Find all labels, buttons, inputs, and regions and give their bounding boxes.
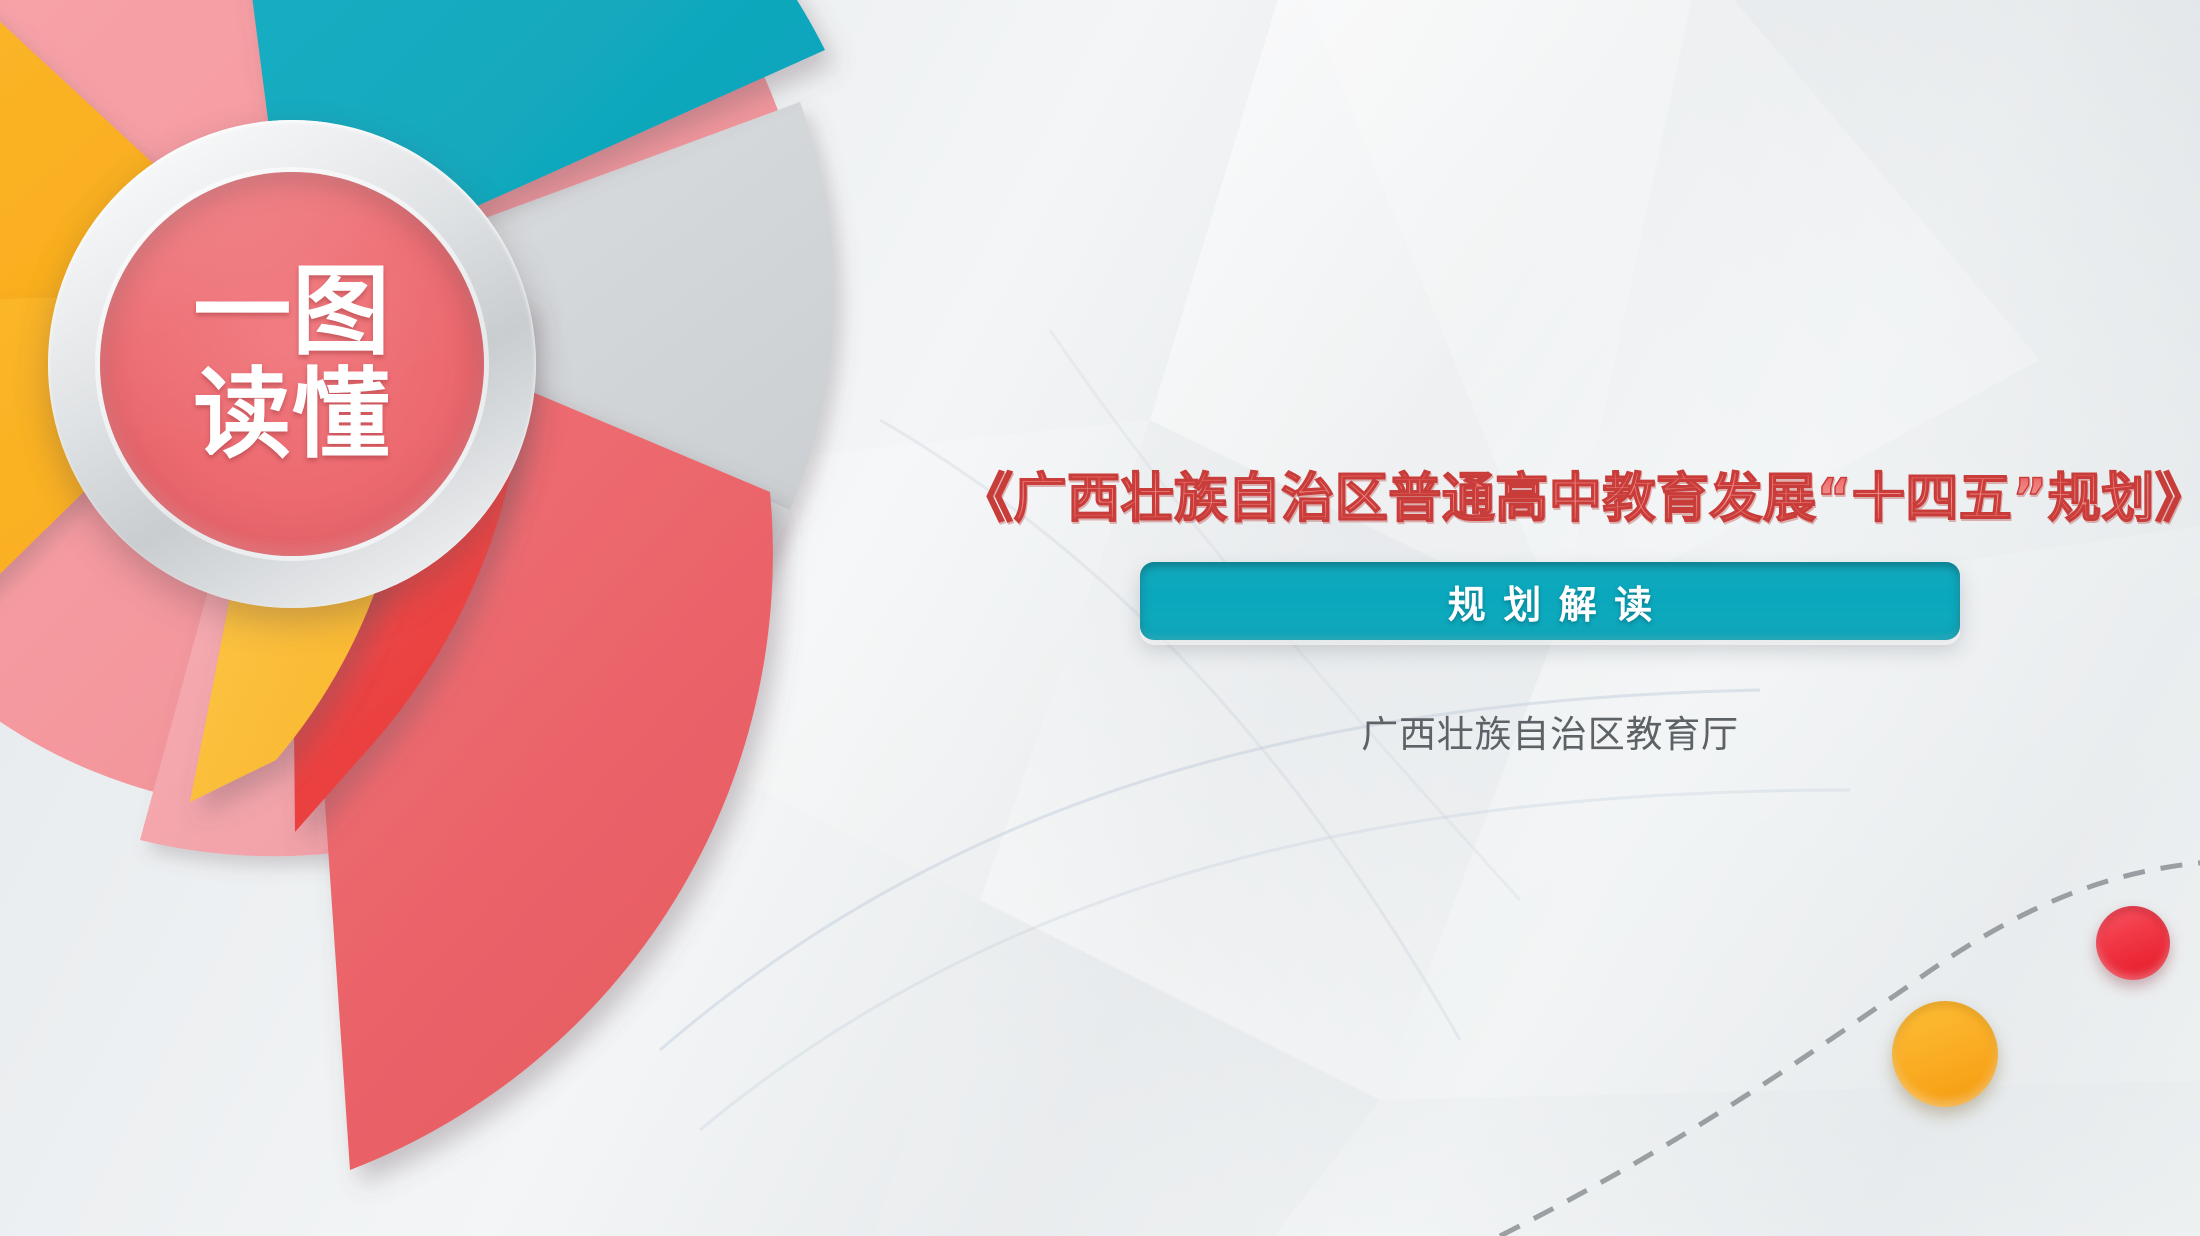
badge-text-block: 一图 读懂 — [100, 172, 484, 556]
plan-interpretation-banner[interactable]: 规划解读 — [1140, 562, 1960, 640]
yi-tu-du-dong-badge: 一图 读懂 — [48, 120, 536, 608]
slide-canvas: 一图 读懂 《广西壮族自治区普通高中教育发展“十四五”规划》 规划解读 广西壮族… — [0, 0, 2200, 1236]
issuer-name: 广西壮族自治区教育厅 — [960, 704, 2140, 758]
dot-decoration-group — [1640, 816, 2200, 1236]
orange-dot — [1892, 1001, 1998, 1107]
badge-line-2: 读懂 — [193, 364, 391, 467]
banner-label: 规划解读 — [1430, 574, 1669, 629]
title-block: 《广西壮族自治区普通高中教育发展“十四五”规划》 规划解读 广西壮族自治区教育厅 — [960, 470, 2140, 758]
red-dot — [2096, 906, 2170, 980]
document-title: 《广西壮族自治区普通高中教育发展“十四五”规划》 — [960, 470, 2140, 528]
dashed-path — [1500, 862, 2200, 1236]
badge-line-1: 一图 — [193, 261, 391, 364]
